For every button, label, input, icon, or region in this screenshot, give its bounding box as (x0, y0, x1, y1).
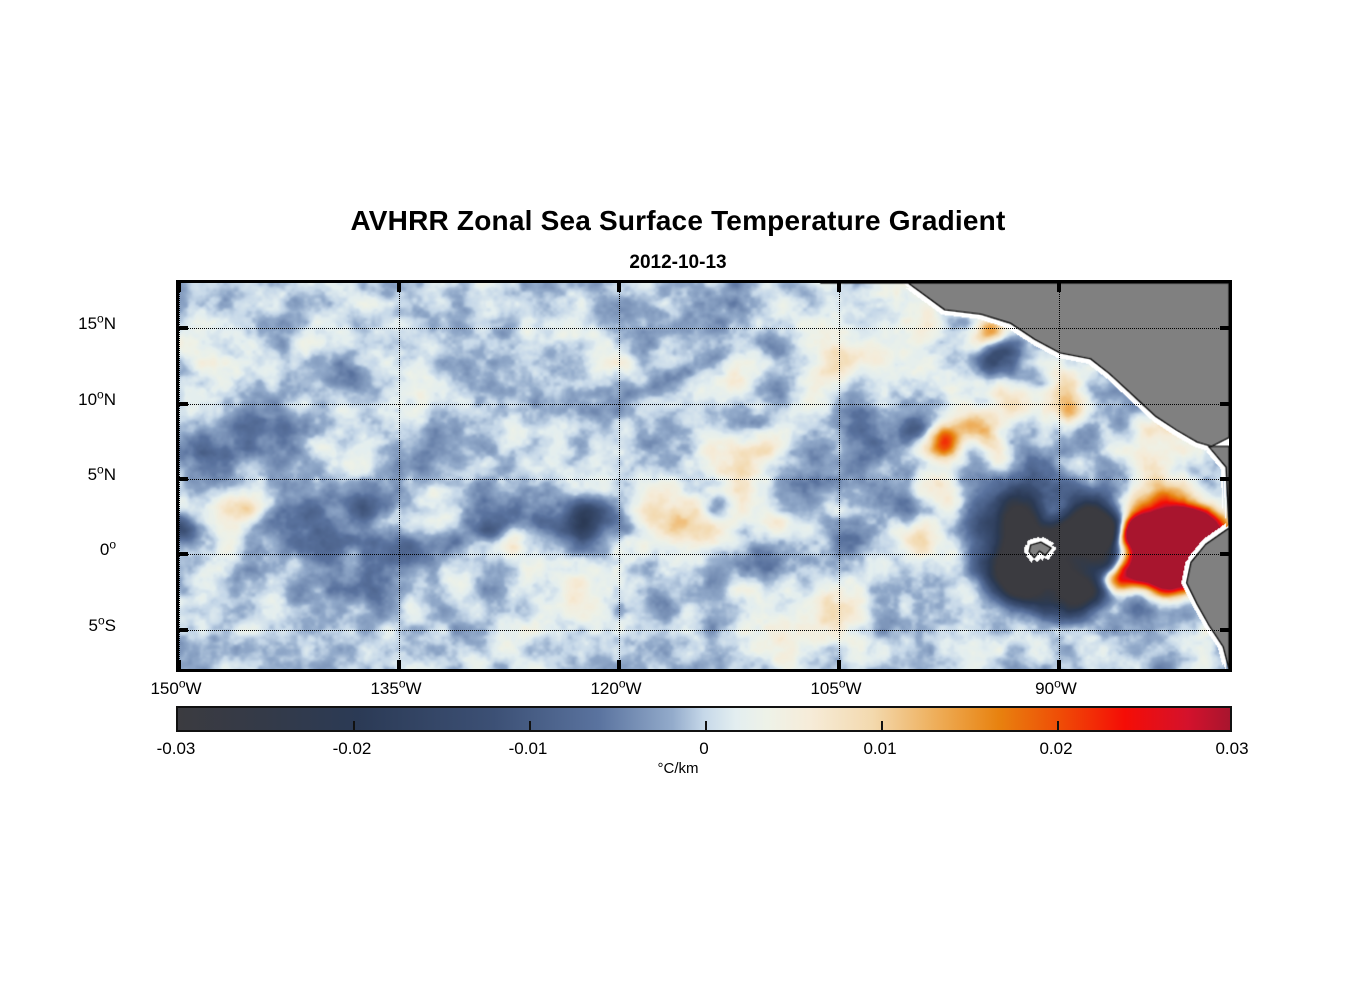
colorbar-tick (881, 721, 883, 730)
colorbar-tick-label: 0.01 (863, 739, 896, 759)
tick-lon (177, 660, 181, 669)
tick-lat (179, 477, 188, 481)
tick-lat (179, 326, 188, 330)
y-axis-tick-label: 0o (100, 540, 116, 560)
colorbar-gradient (178, 708, 1230, 730)
tick-lat (179, 402, 188, 406)
x-axis-tick-label: 135oW (370, 679, 421, 699)
y-axis-tick-label: 15oN (78, 314, 116, 334)
colorbar-tick-label: 0.02 (1039, 739, 1072, 759)
colorbar-tick (1057, 721, 1059, 730)
colorbar-tick-label: -0.03 (157, 739, 196, 759)
y-axis-tick-label: 10oN (78, 390, 116, 410)
tick-lon (1057, 660, 1061, 669)
y-axis-tick-label: 5oN (88, 465, 116, 485)
tick-lon (177, 283, 181, 292)
colorbar (176, 706, 1232, 732)
map-axes (176, 280, 1232, 672)
x-axis-tick-label: 150oW (150, 679, 201, 699)
colorbar-tick-label: 0 (699, 739, 708, 759)
tick-lon (617, 283, 621, 292)
tick-lat (1220, 477, 1229, 481)
colorbar-tick-label: -0.01 (509, 739, 548, 759)
y-axis-tick-label: 5oS (89, 616, 117, 636)
tick-lat (1220, 552, 1229, 556)
tick-lon (837, 283, 841, 292)
x-axis-tick-label: 90oW (1035, 679, 1077, 699)
tick-lat (1220, 628, 1229, 632)
figure-canvas: AVHRR Zonal Sea Surface Temperature Grad… (0, 0, 1356, 1000)
tick-lat (179, 628, 188, 632)
tick-lon (837, 660, 841, 669)
tick-lon (1057, 283, 1061, 292)
x-axis-tick-label: 105oW (810, 679, 861, 699)
tick-lat (1220, 402, 1229, 406)
x-axis-tick-label: 120oW (590, 679, 641, 699)
colorbar-unit-label: °C/km (0, 760, 1356, 777)
colorbar-tick (529, 721, 531, 730)
colorbar-tick-label: -0.02 (333, 739, 372, 759)
tick-lon (397, 660, 401, 669)
tick-lat (1220, 326, 1229, 330)
tick-lon (617, 660, 621, 669)
tick-lat (179, 552, 188, 556)
colorbar-tick (353, 721, 355, 730)
colorbar-tick-label: 0.03 (1215, 739, 1248, 759)
page-title: AVHRR Zonal Sea Surface Temperature Grad… (0, 205, 1356, 237)
colorbar-tick (705, 721, 707, 730)
chart-subtitle: 2012-10-13 (0, 252, 1356, 274)
land-coastline-overlay (179, 283, 1229, 669)
tick-lon (397, 283, 401, 292)
